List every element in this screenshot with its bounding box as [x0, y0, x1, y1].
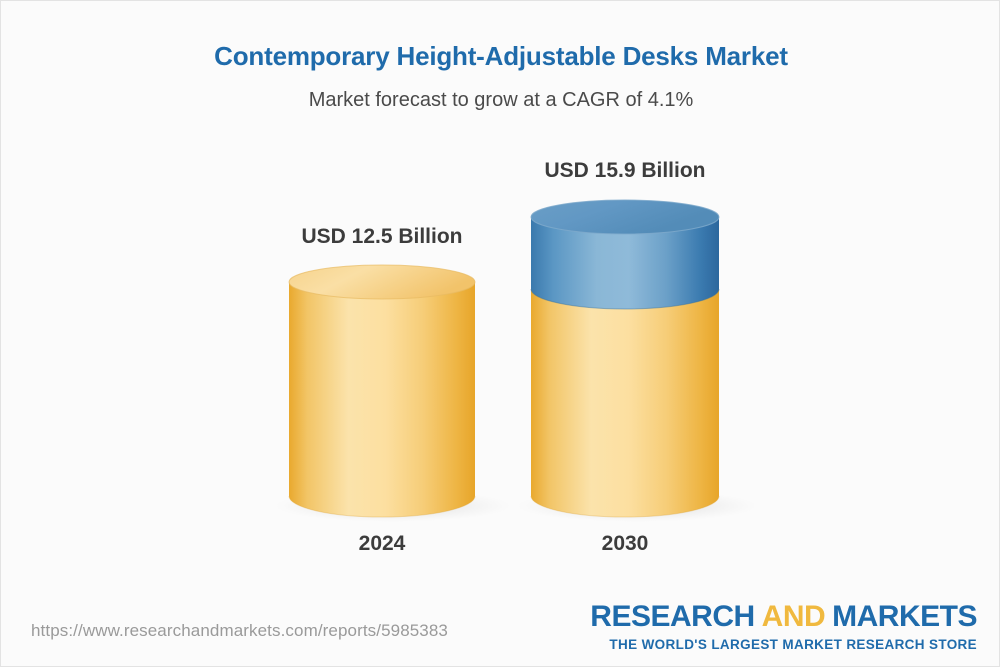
category-label-2030: 2030 [531, 532, 719, 556]
logo-word-markets: MARKETS [832, 600, 977, 633]
report-url[interactable]: https://www.researchandmarkets.com/repor… [31, 621, 448, 641]
logo-word-research: RESEARCH [590, 600, 754, 633]
logo-tagline: THE WORLD'S LARGEST MARKET RESEARCH STOR… [590, 637, 977, 652]
bar-2030 [531, 200, 719, 517]
category-label-2024: 2024 [289, 532, 475, 556]
cylinder-graphics [1, 1, 1000, 601]
chart-canvas: Contemporary Height-Adjustable Desks Mar… [0, 0, 1000, 667]
bar-2024 [289, 265, 475, 517]
logo-word-and: AND [762, 600, 826, 633]
logo-wordmark: RESEARCHANDMARKETS [590, 602, 977, 632]
value-label-2030: USD 15.9 Billion [531, 159, 719, 183]
research-and-markets-logo[interactable]: RESEARCHANDMARKETS THE WORLD'S LARGEST M… [590, 602, 977, 652]
value-label-2024: USD 12.5 Billion [289, 225, 475, 249]
plot-area: USD 12.5 Billion USD 15.9 Billion 2024 2… [1, 1, 1000, 601]
